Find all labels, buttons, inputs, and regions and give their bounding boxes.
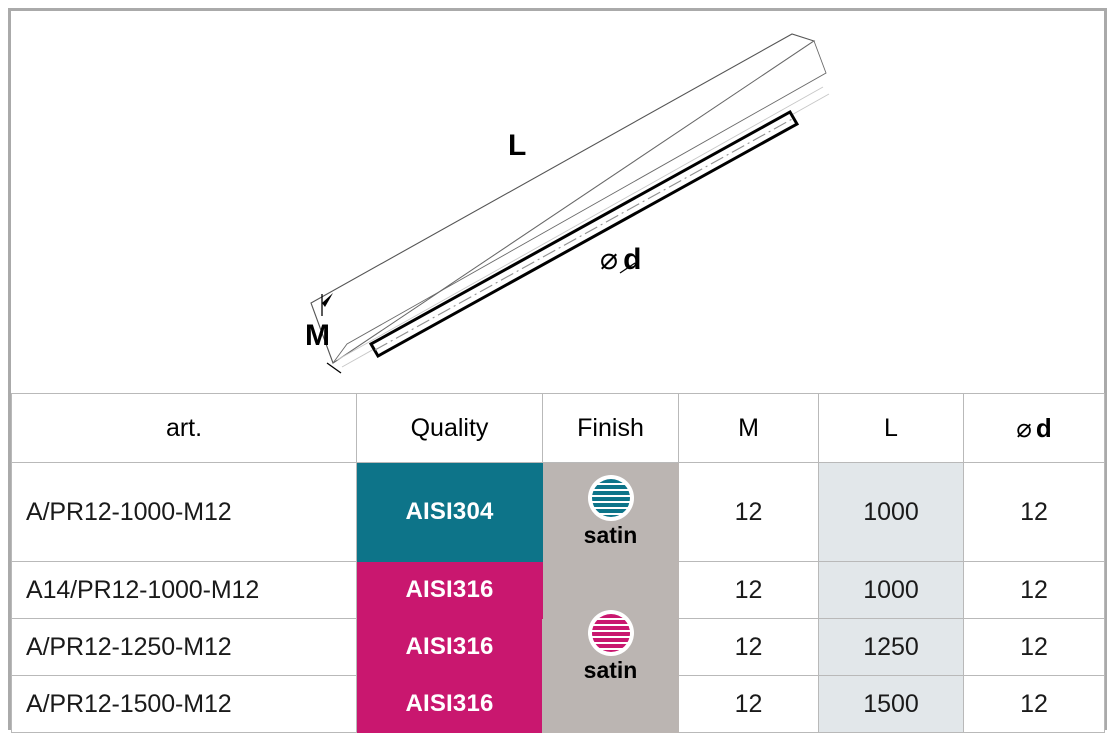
cell-m: 12 — [679, 676, 819, 733]
header-diameter: ⌀d — [964, 394, 1105, 463]
finish-label: satin — [584, 658, 638, 683]
sheet-frame: L M ⌀d art. Quality Finish M L ⌀d — [8, 8, 1107, 730]
plate-top-face — [311, 34, 814, 363]
header-quality: Quality — [357, 394, 543, 463]
technical-drawing-panel: L M ⌀d — [11, 11, 1104, 393]
cell-m: 12 — [679, 562, 819, 619]
table-row[interactable]: A14/PR12-1000-M12 AISI316 satin 12 1000 … — [12, 562, 1105, 619]
plate-side-face — [333, 41, 826, 363]
header-m: M — [679, 394, 819, 463]
table-header: art. Quality Finish M L ⌀d — [12, 394, 1105, 463]
header-row: art. Quality Finish M L ⌀d — [12, 394, 1105, 463]
cell-l: 1500 — [819, 676, 964, 733]
cell-quality-badge: AISI316 — [357, 676, 543, 733]
satin-stripe-circle-icon — [588, 475, 634, 521]
cell-l: 1000 — [819, 562, 964, 619]
cell-diameter: 12 — [964, 676, 1105, 733]
cell-quality-badge: AISI304 — [357, 463, 543, 562]
specification-table: art. Quality Finish M L ⌀d A/PR12-1000-M… — [11, 393, 1105, 733]
dimension-label-diameter: ⌀d — [600, 245, 641, 275]
table-body: A/PR12-1000-M12 AISI304 satin 12 1000 12 — [12, 463, 1105, 733]
header-art: art. — [12, 394, 357, 463]
cell-l: 1250 — [819, 619, 964, 676]
diameter-symbol-icon: ⌀ — [1016, 413, 1032, 443]
rod-drawing-svg — [11, 11, 1104, 393]
cell-m: 12 — [679, 463, 819, 562]
diameter-symbol-icon: ⌀ — [600, 243, 618, 276]
diameter-letter: d — [623, 243, 641, 276]
cell-art: A/PR12-1500-M12 — [12, 676, 357, 733]
cell-quality-badge: AISI316 — [357, 619, 543, 676]
rod-body-outline — [311, 34, 826, 363]
diameter-letter: d — [1036, 413, 1052, 443]
finish-label: satin — [584, 523, 638, 548]
cell-art: A14/PR12-1000-M12 — [12, 562, 357, 619]
cell-finish-satin-teal: satin — [543, 463, 679, 562]
table-row[interactable]: A/PR12-1000-M12 AISI304 satin 12 1000 12 — [12, 463, 1105, 562]
cell-diameter: 12 — [964, 562, 1105, 619]
satin-stripe-circle-icon — [588, 610, 634, 656]
cell-art: A/PR12-1000-M12 — [12, 463, 357, 562]
cell-quality-badge: AISI316 — [357, 562, 543, 619]
dimension-label-length: L — [508, 131, 526, 161]
cell-finish-satin-magenta: satin — [543, 562, 679, 733]
cell-art: A/PR12-1250-M12 — [12, 619, 357, 676]
product-spec-sheet: L M ⌀d art. Quality Finish M L ⌀d — [0, 0, 1115, 738]
cell-l: 1000 — [819, 463, 964, 562]
header-finish: Finish — [543, 394, 679, 463]
cell-m: 12 — [679, 619, 819, 676]
cell-diameter: 12 — [964, 619, 1105, 676]
dimension-label-thread: M — [305, 321, 330, 351]
header-l: L — [819, 394, 964, 463]
cell-diameter: 12 — [964, 463, 1105, 562]
